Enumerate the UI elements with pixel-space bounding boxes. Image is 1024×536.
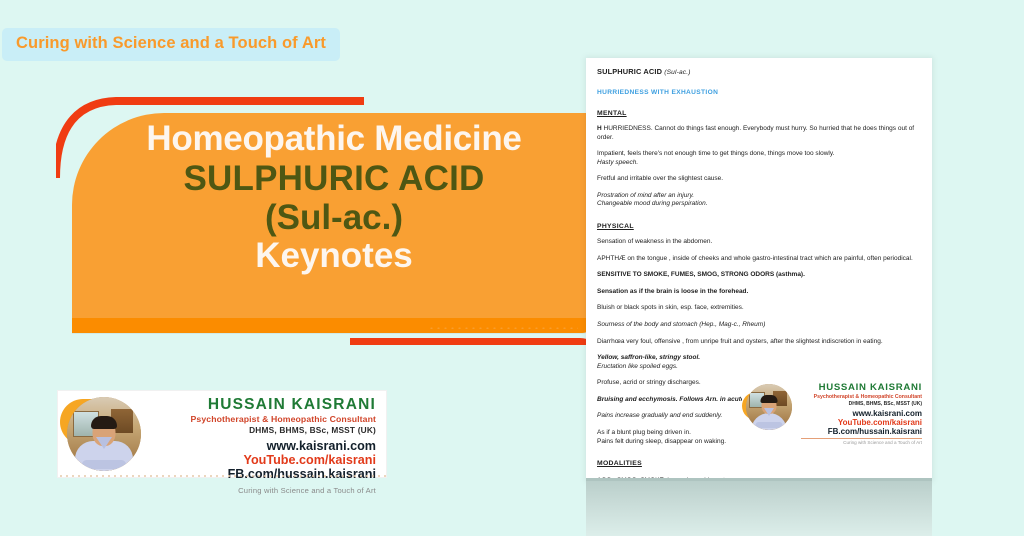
- doc-text-physical-4: Bluish or black spots in skin, esp. face…: [597, 304, 744, 311]
- document-signature-banner: HUSSAIN KAISRANI Psychotherapist & Homeo…: [742, 380, 924, 442]
- doc-text-physical-2: SENSITIVE TO SMOKE, FUMES, SMOG, STRONG …: [597, 271, 805, 278]
- doc-banner-role: Psychotherapist & Homeopathic Consultant: [814, 394, 922, 400]
- doc-text-physical-1: APHTHÆ on the tongue , inside of cheeks …: [597, 255, 913, 262]
- signature-banner: HUSSAIN KAISRANI Psychotherapist & Homeo…: [58, 391, 386, 477]
- doc-paragraph: H HURRIEDNESS. Cannot do things fast eno…: [597, 125, 921, 142]
- doc-text-mental-5: Changeable mood during perspiration.: [597, 200, 708, 207]
- doc-paragraph: SENSITIVE TO SMOKE, FUMES, SMOG, STRONG …: [597, 271, 921, 280]
- doc-section-modalities: MODALITIES: [597, 460, 921, 467]
- doc-paragraph: APHTHÆ on the tongue , inside of cheeks …: [597, 255, 921, 264]
- doc-banner-tagline: Curing with Science and a Touch of Art: [843, 440, 922, 445]
- doc-title-main: SULPHURIC ACID: [597, 67, 662, 76]
- doc-paragraph: Impatient, feels there's not enough time…: [597, 150, 921, 167]
- doc-paragraph: Diarrhœa very foul, offensive , from unr…: [597, 338, 921, 347]
- dotted-texture: [428, 323, 578, 329]
- doc-title: SULPHURIC ACID (Sul-ac.): [597, 67, 921, 76]
- doc-banner-divider: [801, 438, 922, 439]
- doc-text-physical-0: Sensation of weakness in the abdomen.: [597, 238, 712, 245]
- doc-text-physical-3: Sensation as if the brain is loose in th…: [597, 288, 748, 295]
- doc-subtitle: HURRIEDNESS WITH EXHAUSTION: [597, 89, 921, 96]
- doc-banner-text-block: HUSSAIN KAISRANI Psychotherapist & Homeo…: [796, 380, 924, 445]
- doc-text-mental-3: Fretful and irritable over the slightest…: [597, 175, 723, 182]
- doc-text-run: H: [597, 125, 602, 132]
- banner-youtube-link[interactable]: YouTube.com/kaisrani: [244, 453, 377, 467]
- doc-avatar: [746, 384, 792, 430]
- doc-text-mental-4: Prostration of mind after an injury.: [597, 192, 694, 199]
- doc-text-physical-6: Diarrhœa very foul, offensive , from unr…: [597, 338, 883, 345]
- doc-paragraph: Prostration of mind after an injury. Cha…: [597, 192, 921, 209]
- banner-dotted-edge: [58, 473, 386, 477]
- banner-photo-area: [58, 391, 150, 477]
- doc-banner-youtube-link[interactable]: YouTube.com/kaisrani: [838, 418, 922, 427]
- title-card-text-block: Homeopathic Medicine SULPHURIC ACID (Sul…: [72, 121, 596, 275]
- banner-name: HUSSAIN KAISRANI: [208, 396, 376, 413]
- title-line-remedy: SULPHURIC ACID: [90, 161, 578, 197]
- banner-text-block: HUSSAIN KAISRANI Psychotherapist & Homeo…: [150, 391, 386, 477]
- doc-banner-qualifications: DHMS, BHMS, BSc, MSST (UK): [849, 401, 922, 407]
- doc-paragraph: Sensation of weakness in the abdomen.: [597, 238, 921, 247]
- doc-paragraph: Fretful and irritable over the slightest…: [597, 175, 921, 184]
- doc-section-physical: PHYSICAL: [597, 223, 921, 230]
- doc-paragraph: Bluish or black spots in skin, esp. face…: [597, 304, 921, 313]
- doc-paragraph: Sourness of the body and stomach (Hep., …: [597, 321, 921, 330]
- slide-canvas: Curing with Science and a Touch of Art H…: [0, 0, 1024, 536]
- title-card-bottom-strip: [72, 318, 596, 333]
- doc-text-physical-7: Yellow, saffron-like, stringy stool.: [597, 354, 700, 361]
- title-line-medicine: Homeopathic Medicine: [90, 121, 578, 157]
- tagline-badge: Curing with Science and a Touch of Art: [2, 28, 340, 61]
- doc-banner-name: HUSSAIN KAISRANI: [819, 382, 922, 393]
- doc-banner-facebook-link[interactable]: FB.com/hussain.kaisrani: [828, 427, 922, 436]
- title-card: Homeopathic Medicine SULPHURIC ACID (Sul…: [72, 113, 596, 333]
- doc-text-mental-2: Hasty speech.: [597, 159, 638, 166]
- doc-text-physical-13: Pains felt during sleep, disappear on wa…: [597, 438, 726, 445]
- doc-text-physical-11: Pains increase gradually and end suddenl…: [597, 412, 722, 419]
- banner-website-link[interactable]: www.kaisrani.com: [267, 439, 376, 453]
- doc-section-mental: MENTAL: [597, 110, 921, 117]
- doc-text-physical-5: Sourness of the body and stomach (Hep., …: [597, 321, 765, 328]
- doc-paragraph: Sensation as if the brain is loose in th…: [597, 288, 921, 297]
- doc-text-physical-9: Profuse, acrid or stringy discharges.: [597, 379, 701, 386]
- banner-qualifications: DHMS, BHMS, BSc, MSST (UK): [249, 425, 376, 435]
- doc-paragraph: Yellow, saffron-like, stringy stool. Eru…: [597, 354, 921, 371]
- doc-text-physical-8: Eructation like spoiled eggs.: [597, 363, 678, 370]
- doc-banner-photo-area: [742, 380, 796, 430]
- title-line-keynotes: Keynotes: [90, 238, 578, 274]
- avatar: [67, 397, 141, 471]
- document-lower-gradient: [586, 478, 932, 536]
- banner-role: Psychotherapist & Homeopathic Consultant: [191, 414, 377, 424]
- title-line-abbrev: (Sul-ac.): [90, 200, 578, 236]
- banner-tagline: Curing with Science and a Touch of Art: [238, 486, 376, 495]
- doc-text-mental-1: Impatient, feels there's not enough time…: [597, 150, 834, 157]
- document-bottom-edge: [586, 478, 932, 481]
- doc-text-mental-0: HURRIEDNESS. Cannot do things fast enoug…: [597, 125, 914, 141]
- doc-title-abbrev: (Sul-ac.): [664, 69, 690, 76]
- doc-text-physical-12: As if a blunt plug being driven in.: [597, 429, 691, 436]
- doc-banner-website-link[interactable]: www.kaisrani.com: [852, 409, 922, 418]
- red-line-accent-icon: [350, 334, 594, 347]
- document-page[interactable]: SULPHURIC ACID (Sul-ac.) HURRIEDNESS WIT…: [586, 58, 932, 480]
